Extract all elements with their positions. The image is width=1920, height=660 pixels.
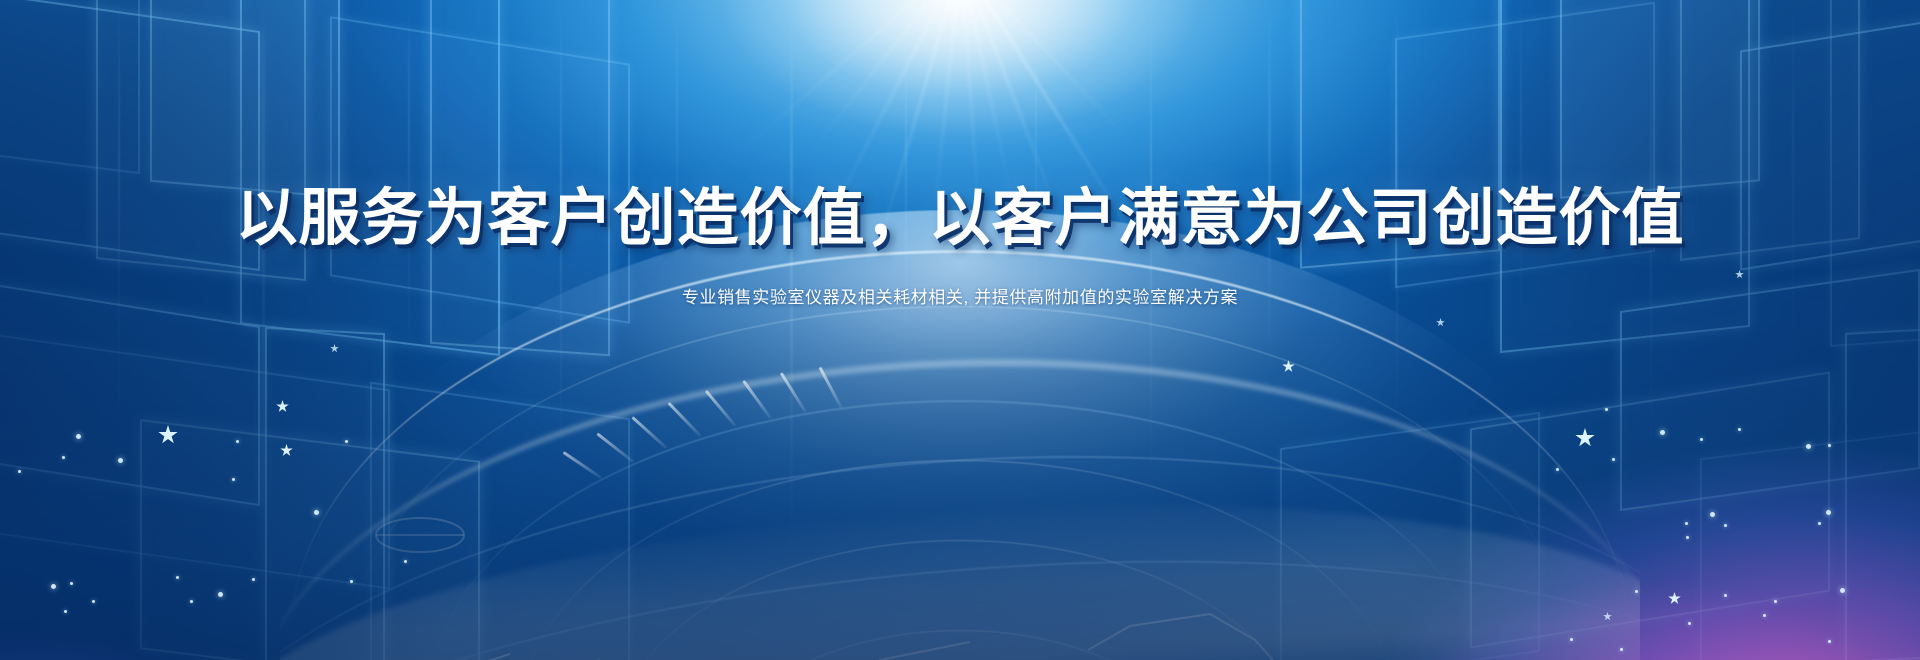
dot-sparkle — [1710, 512, 1715, 517]
dot-sparkle — [1660, 430, 1665, 435]
dot-sparkle — [1826, 510, 1831, 515]
dot-sparkle — [1763, 614, 1766, 617]
banner-text-block: 以服务为客户创造价值，以客户满意为公司创造价值 专业销售实验室仪器及相关耗材相关… — [0, 0, 1920, 308]
dot-sparkle — [252, 578, 255, 581]
geo-frame — [0, 274, 260, 506]
dot-sparkle — [190, 600, 193, 603]
dot-sparkle — [51, 584, 56, 589]
page-title: 以服务为客户创造价值，以客户满意为公司创造价值 — [0, 0, 1920, 255]
dot-sparkle — [1724, 524, 1727, 527]
dot-sparkle — [232, 478, 235, 481]
page-subtitle: 专业销售实验室仪器及相关耗材相关, 并提供高附加值的实验室解决方案 — [0, 255, 1920, 308]
star-sparkle — [1668, 592, 1681, 605]
dot-sparkle — [1828, 444, 1831, 447]
geo-frame — [1845, 327, 1920, 660]
dot-sparkle — [1700, 438, 1703, 441]
dot-sparkle — [64, 610, 67, 613]
dot-sparkle — [236, 440, 239, 443]
dot-sparkle — [1828, 640, 1831, 643]
dot-sparkle — [1774, 600, 1777, 603]
dot-sparkle — [1840, 588, 1845, 593]
dot-sparkle — [92, 600, 95, 603]
dot-sparkle — [1738, 428, 1741, 431]
hero-banner: 以服务为客户创造价值，以客户满意为公司创造价值 专业销售实验室仪器及相关耗材相关… — [0, 0, 1920, 660]
dot-sparkle — [1724, 594, 1727, 597]
dot-sparkle — [218, 592, 223, 597]
dot-sparkle — [1686, 536, 1689, 539]
dot-sparkle — [118, 458, 123, 463]
dot-sparkle — [62, 456, 65, 459]
dot-sparkle — [76, 434, 81, 439]
dot-sparkle — [176, 576, 179, 579]
dot-sparkle — [70, 582, 73, 585]
dot-sparkle — [1688, 622, 1691, 625]
dot-sparkle — [18, 470, 21, 473]
dot-sparkle — [1806, 444, 1811, 449]
dot-sparkle — [1685, 522, 1688, 525]
star-sparkle — [158, 425, 178, 445]
dot-sparkle — [1818, 522, 1821, 525]
geo-frame — [1700, 422, 1920, 660]
